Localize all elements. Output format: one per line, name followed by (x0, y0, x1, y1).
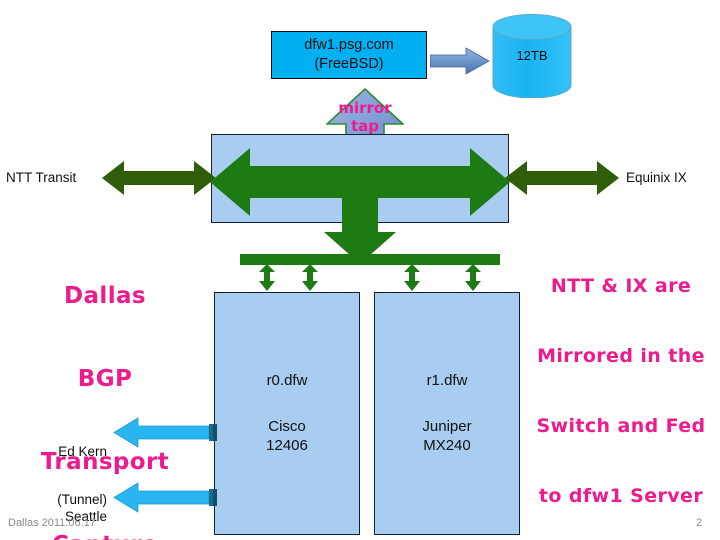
right-annotation-line-4: to dfw1 Server (524, 485, 718, 508)
router-r0-model: 12406 (266, 436, 308, 456)
page-number: 2 (696, 517, 702, 530)
mirror-tap-line2: tap (326, 118, 404, 136)
router-box-r1[interactable]: r1.dfw Juniper MX240 (374, 292, 520, 535)
left-annotation-line-2: BGP (14, 366, 196, 394)
mirror-tap-line1: mirror (326, 100, 404, 118)
left-annotation: Dallas BGP Transport Capture Hack (14, 228, 196, 540)
left-annotation-line-1: Dallas (14, 283, 196, 311)
ntt-transit-arrow-icon (101, 156, 217, 200)
equinix-ix-label: Equinix IX (626, 170, 687, 186)
right-annotation-line-1: NTT & IX are (524, 275, 718, 298)
ntt-transit-label: NTT Transit (6, 170, 76, 186)
slide-canvas: dfw1.psg.com (FreeBSD) (0, 0, 720, 540)
router-r1-model: MX240 (422, 436, 471, 456)
right-annotation: NTT & IX are Mirrored in the Switch and … (524, 228, 718, 540)
dfw1-server-box[interactable]: dfw1.psg.com (FreeBSD) (271, 31, 427, 79)
equinix-ix-arrow-icon (504, 156, 620, 200)
mirror-tap-label: mirror tap (326, 100, 404, 135)
router-r0-name: r0.dfw (267, 371, 308, 391)
dfw1-os: (FreeBSD) (314, 55, 383, 74)
dfw1-hostname: dfw1.psg.com (304, 36, 393, 55)
left-annotation-line-3: Transport (14, 449, 196, 477)
router-r1-vendor: Juniper (422, 417, 471, 437)
footer-date: Dallas 2011.06.17 (8, 517, 96, 530)
right-annotation-line-3: Switch and Fed (524, 415, 718, 438)
router-box-r0[interactable]: r0.dfw Cisco 12406 (214, 292, 360, 535)
router-r0-vendor: Cisco (266, 417, 308, 437)
left-annotation-line-4: Capture (14, 532, 196, 540)
server-to-storage-arrow-icon (430, 47, 490, 75)
right-annotation-line-2: Mirrored in the (524, 345, 718, 368)
storage-capacity-label: 12TB (492, 48, 572, 63)
router-r1-name: r1.dfw (427, 371, 468, 391)
switch-mirror-flow-arrow-icon (208, 140, 512, 265)
